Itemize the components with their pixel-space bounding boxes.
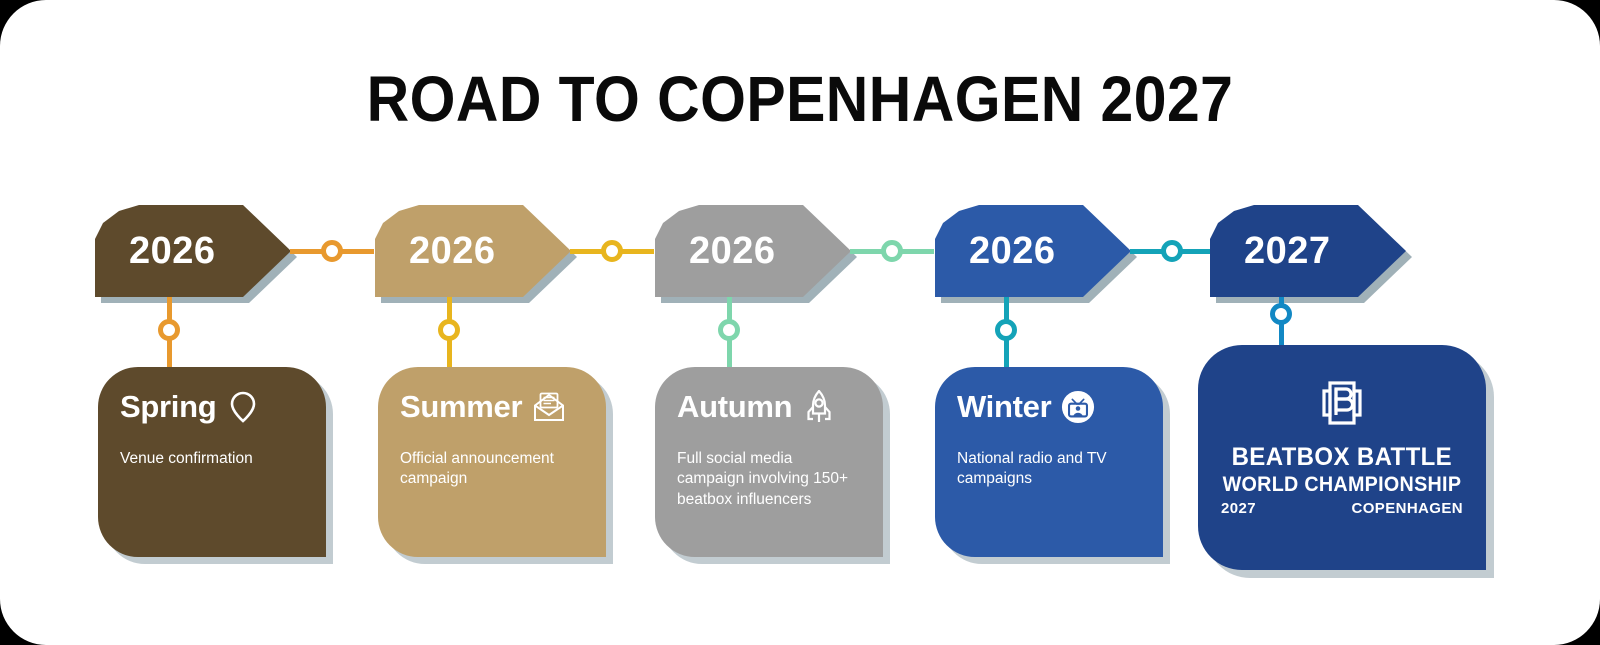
connector-node xyxy=(881,240,903,262)
season-label: Summer xyxy=(400,389,522,425)
connector-node xyxy=(1270,303,1292,325)
infographic-page: ROAD TO COPENHAGEN 2027 2026SpringVenue … xyxy=(0,0,1600,645)
logo-year: 2027 xyxy=(1221,500,1256,517)
open-envelope-icon xyxy=(532,390,566,424)
timeline: 2026SpringVenue confirmation2026SummerOf… xyxy=(0,0,1600,645)
tv-broadcast-icon xyxy=(1061,390,1095,424)
logo-line-1: BEATBOX BATTLE xyxy=(1232,443,1452,472)
drop-connector-1 xyxy=(158,297,182,377)
season-label: Winter xyxy=(957,389,1051,425)
drop-connector-3 xyxy=(718,297,742,377)
logo-block: BEATBOX BATTLEWORLD CHAMPIONSHIP2027COPE… xyxy=(1198,377,1486,517)
year-banner-2: 2026 xyxy=(375,205,571,297)
horizontal-connector-3 xyxy=(850,245,934,257)
card-header: Autumn xyxy=(677,389,869,425)
connector-node xyxy=(438,319,460,341)
card-description: Full social media campaign involving 150… xyxy=(677,449,863,510)
connector-node xyxy=(995,319,1017,341)
drop-connector-2 xyxy=(438,297,462,377)
connector-node xyxy=(321,240,343,262)
horizontal-connector-2 xyxy=(570,245,654,257)
location-pin-icon xyxy=(226,390,260,424)
card-header: Winter xyxy=(957,389,1149,425)
logo-line-3: 2027COPENHAGEN xyxy=(1221,500,1463,517)
year-label: 2026 xyxy=(375,230,496,273)
card-description: National radio and TV campaigns xyxy=(957,449,1143,490)
horizontal-connector-4 xyxy=(1130,245,1214,257)
year-banner-3: 2026 xyxy=(655,205,851,297)
stage-card-winter[interactable]: WinterNational radio and TV campaigns xyxy=(935,367,1163,557)
year-banner-4: 2026 xyxy=(935,205,1131,297)
year-label: 2026 xyxy=(95,230,216,273)
rocket-icon xyxy=(802,390,836,424)
year-banner-5: 2027 xyxy=(1210,205,1406,297)
card-description: Venue confirmation xyxy=(120,449,306,469)
event-logo-card[interactable]: BEATBOX BATTLEWORLD CHAMPIONSHIP2027COPE… xyxy=(1198,345,1486,570)
connector-node xyxy=(718,319,740,341)
year-label: 2026 xyxy=(935,230,1056,273)
stage-card-autumn[interactable]: AutumnFull social media campaign involvi… xyxy=(655,367,883,557)
card-description: Official announcement campaign xyxy=(400,449,586,490)
stage-card-summer[interactable]: SummerOfficial announcement campaign xyxy=(378,367,606,557)
season-label: Autumn xyxy=(677,389,792,425)
year-label: 2026 xyxy=(655,230,776,273)
stage-card-spring[interactable]: SpringVenue confirmation xyxy=(98,367,326,557)
season-label: Spring xyxy=(120,389,216,425)
card-header: Spring xyxy=(120,389,312,425)
connector-node xyxy=(601,240,623,262)
beatbox-battle-logo-icon xyxy=(1316,377,1368,429)
year-label: 2027 xyxy=(1210,230,1331,273)
horizontal-connector-1 xyxy=(290,245,374,257)
connector-node xyxy=(1161,240,1183,262)
card-header: Summer xyxy=(400,389,592,425)
drop-connector-4 xyxy=(995,297,1019,377)
year-banner-1: 2026 xyxy=(95,205,291,297)
connector-node xyxy=(158,319,180,341)
logo-line-2: WORLD CHAMPIONSHIP xyxy=(1223,473,1462,497)
logo-city: COPENHAGEN xyxy=(1351,500,1463,517)
